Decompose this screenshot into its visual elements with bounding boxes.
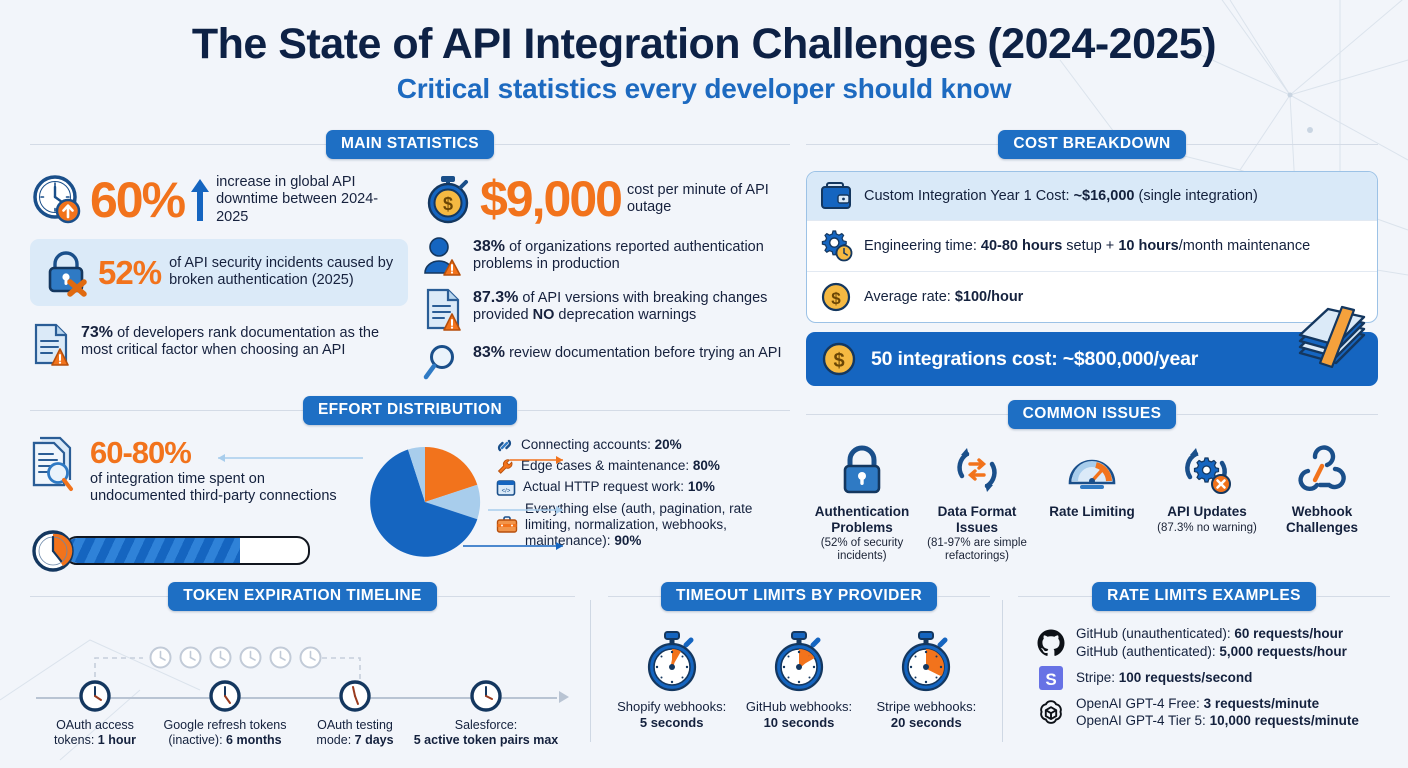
ghost-clocks [148,645,323,670]
divider [30,410,303,411]
stat-value-documentation: 73% [81,324,113,341]
stat-desc-documentation: of developers rank documentation as the … [81,325,379,358]
cost-prefix: Average rate: [864,289,955,305]
stripe-icon: S [1036,663,1066,693]
issue-webhook-challenges: Webhook Challenges [1266,443,1378,563]
timeline-value: 7 days [355,733,394,747]
timeout-label: Shopify webhooks: [617,699,726,714]
stat-broken-auth: 52% of API security incidents caused by … [30,239,408,306]
rate-limit-label: OpenAI GPT-4 Tier 5: [1076,713,1210,728]
dollar-coin-icon: $ [819,281,853,313]
timeline-label-1: OAuth testing [317,718,393,732]
timeout-label: Stripe webhooks: [876,699,976,714]
token-timeline: OAuth accesstokens: 1 hour Google refres… [30,623,575,743]
clock-icon [78,679,112,713]
section-header-effort-distribution: EFFORT DISTRIBUTION [30,396,790,425]
data-format-icon [948,443,1006,499]
stat-review-docs: 83% review documentation before trying a… [422,342,790,382]
page-subtitle: Critical statistics every developer shou… [0,73,1408,105]
gauge-icon [1063,443,1121,499]
progress-bar[interactable] [64,536,310,565]
chip-effort-distribution: EFFORT DISTRIBUTION [303,396,517,425]
lock-error-icon [42,248,90,296]
stat-desc-breaking-changes-bold: NO [533,307,555,323]
issue-name: Data Format Issues [921,504,1033,535]
pie-connectors [368,438,788,568]
issue-sub: (87.3% no warning) [1151,522,1263,535]
rate-limit-value: 10,000 requests/minute [1210,713,1359,728]
timeout-limits-body: Shopify webhooks:5 seconds GitHub webhoo… [608,629,990,732]
divider [494,144,790,145]
openai-icon [1036,697,1066,727]
rate-limit-stripe: S Stripe: 100 requests/second [1036,663,1390,693]
arrow-up-icon [190,177,210,223]
cost-row-year1: Custom Integration Year 1 Cost: ~$16,000… [807,172,1377,220]
common-issues-body: Authentication Problems (52% of security… [806,443,1378,563]
main-statistics-body: 60% increase in global API downtime betw… [30,173,790,382]
webhook-icon [1293,443,1351,499]
stat-breaking-changes: 87.3% of API versions with breaking chan… [422,287,790,331]
issue-name: Authentication Problems [806,504,918,535]
stat-auth-problems: 38% of organizations reported authentica… [422,236,790,276]
issue-api-updates: API Updates (87.3% no warning) [1151,443,1263,563]
effort-description: of integration time spent on undocumente… [90,471,360,506]
issue-sub: (81-97% are simple refactorings) [921,537,1033,563]
divider [1018,596,1092,597]
timeline-node-google-refresh: Google refresh tokens(inactive): 6 month… [150,679,300,748]
timeline-label-2: tokens: [54,733,98,747]
cost-breakdown-card: Custom Integration Year 1 Cost: ~$16,000… [806,171,1378,323]
cash-stack-icon [1280,305,1380,377]
divider [937,596,990,597]
cost-value: 40-80 hours [981,238,1062,254]
wallet-icon [819,181,853,211]
rate-limits-panel: RATE LIMITS EXAMPLES GitHub (unauthentic… [1018,582,1390,732]
cost-suffix: (single integration) [1134,188,1257,204]
clock-icon [178,645,203,670]
stat-desc-review-docs: review documentation before trying an AP… [509,345,781,361]
document-warning-icon [422,287,464,331]
timeline-label-1: Salesforce: [455,718,518,732]
cost-suffix: /month maintenance [1179,238,1310,254]
effort-value: 60-80% [90,437,360,468]
magnifier-icon [422,342,464,382]
svg-text:$: $ [831,289,841,308]
clock-icon [469,679,503,713]
stopwatch-icon [768,629,830,695]
divider [30,144,326,145]
stat-value-broken-auth: 52% [98,254,161,291]
rate-limits-body: GitHub (unauthenticated): 60 requests/ho… [1018,625,1390,730]
effort-progress [30,528,360,574]
rate-limit-openai: OpenAI GPT-4 Free: 3 requests/minute Ope… [1036,695,1390,731]
main-stats-right: $ $9,000 cost per minute of API outage 3… [422,173,790,382]
gear-clock-icon [819,230,853,262]
timeline-value: 1 hour [98,733,136,747]
stat-desc-auth-problems: of organizations reported authentication… [473,239,764,272]
chip-cost-breakdown: COST BREAKDOWN [998,130,1185,159]
chip-common-issues: COMMON ISSUES [1008,400,1177,429]
cost-prefix: Engineering time: [864,238,981,254]
rate-limit-value: 5,000 requests/hour [1219,644,1347,659]
svg-text:$: $ [443,194,453,214]
document-warning-icon [30,322,72,366]
issue-sub: (52% of security incidents) [806,537,918,563]
cost-value-2: 10 hours [1118,238,1178,254]
stat-desc-broken-auth: of API security incidents caused by brok… [169,255,396,289]
chip-token-timeline: TOKEN EXPIRATION TIMELINE [168,582,437,611]
timeline-node-oauth-testing: OAuth testingmode: 7 days [280,679,430,748]
timeline-value: 5 active token pairs max [414,733,559,747]
divider [1002,600,1003,742]
divider [437,596,575,597]
issue-name: Webhook Challenges [1266,504,1378,535]
divider [806,144,998,145]
stat-value-outage-cost: $9,000 [480,174,621,224]
section-header-cost-breakdown: COST BREAKDOWN [806,130,1378,159]
section-header-main-statistics: MAIN STATISTICS [30,130,790,159]
divider [1186,144,1378,145]
stat-desc-outage-cost: cost per minute of API outage [627,182,790,216]
divider [1176,414,1378,415]
main-stats-left: 60% increase in global API downtime betw… [30,173,408,382]
api-update-error-icon [1178,443,1236,499]
stat-value-review-docs: 83% [473,344,505,361]
section-header-rate-limits: RATE LIMITS EXAMPLES [1018,582,1390,611]
user-warning-icon [422,236,464,276]
timeout-limits-panel: TIMEOUT LIMITS BY PROVIDER Shopify webho… [608,582,990,732]
bottom-row: TOKEN EXPIRATION TIMELINE [0,582,1408,768]
cost-value: $100/hour [955,289,1024,305]
clock-icon [30,528,76,574]
rate-limit-label: Stripe: [1076,670,1119,685]
stat-value-downtime: 60% [90,175,184,225]
divider [1316,596,1390,597]
stat-desc-downtime: increase in global API downtime between … [216,174,408,225]
section-header-common-issues: COMMON ISSUES [806,400,1378,429]
stopwatch-dollar-icon: $ [422,173,474,225]
issue-rate-limiting: Rate Limiting [1036,443,1148,563]
cost-mid: setup + [1062,238,1118,254]
clock-icon [338,679,372,713]
timeline-node-salesforce: Salesforce:5 active token pairs max [411,679,561,748]
stat-value-auth-problems: 38% [473,238,505,255]
rate-limit-value: 3 requests/minute [1204,696,1320,711]
timeline-node-oauth-access: OAuth accesstokens: 1 hour [20,679,170,748]
rate-limit-label: GitHub (unauthenticated): [1076,626,1234,641]
divider [806,414,1008,415]
document-search-icon [30,437,80,495]
cost-total-banner: $ 50 integrations cost: ~$800,000/year [806,332,1378,386]
timeout-shopify: Shopify webhooks:5 seconds [608,629,735,732]
clock-icon [208,679,242,713]
stat-outage-cost: $ $9,000 cost per minute of API outage [422,173,790,225]
progress-bar-fill [66,538,240,563]
timeout-value: 5 seconds [640,715,704,730]
stopwatch-icon [641,629,703,695]
timeout-stripe: Stripe webhooks:20 seconds [863,629,990,732]
clock-icon [208,645,233,670]
divider [608,596,661,597]
clock-up-icon [30,173,84,227]
clock-icon [238,645,263,670]
timeline-label-1: Google refresh tokens [164,718,287,732]
section-header-token-timeline: TOKEN EXPIRATION TIMELINE [30,582,575,611]
issue-authentication-problems: Authentication Problems (52% of security… [806,443,918,563]
issue-data-format: Data Format Issues (81-97% are simple re… [921,443,1033,563]
divider [30,596,168,597]
rate-limit-github: GitHub (unauthenticated): 60 requests/ho… [1036,625,1390,661]
stat-desc-breaking-changes-2: deprecation warnings [554,307,696,323]
timeout-github: GitHub webhooks:10 seconds [735,629,862,732]
divider [590,600,591,742]
page-title: The State of API Integration Challenges … [0,22,1408,67]
clock-icon [298,645,323,670]
timeline-label-1: OAuth access [56,718,134,732]
stat-api-downtime: 60% increase in global API downtime betw… [30,173,408,227]
issue-name: Rate Limiting [1036,504,1148,520]
stat-value-breaking-changes: 87.3% [473,289,518,306]
cost-prefix: Custom Integration Year 1 Cost: [864,188,1074,204]
stat-documentation-rank: 73% of developers rank documentation as … [30,322,408,366]
rate-limit-label: OpenAI GPT-4 Free: [1076,696,1204,711]
lock-icon [833,443,891,499]
rate-limit-value: 100 requests/second [1119,670,1253,685]
timeout-value: 20 seconds [891,715,962,730]
svg-text:S: S [1045,670,1056,689]
timeout-value: 10 seconds [764,715,835,730]
clock-icon [148,645,173,670]
token-timeline-panel: TOKEN EXPIRATION TIMELINE [30,582,575,743]
timeline-label-2: mode: [316,733,354,747]
rate-limit-label: GitHub (authenticated): [1076,644,1219,659]
right-column: COST BREAKDOWN Custom Integration Year 1… [806,130,1378,563]
section-header-timeout-limits: TIMEOUT LIMITS BY PROVIDER [608,582,990,611]
stopwatch-icon [895,629,957,695]
dollar-coin-icon: $ [820,341,858,377]
chip-rate-limits: RATE LIMITS EXAMPLES [1092,582,1316,611]
timeline-label-2: (inactive): [168,733,226,747]
clock-icon [268,645,293,670]
rate-limit-value: 60 requests/hour [1234,626,1343,641]
divider [517,410,790,411]
cost-total-label: 50 integrations cost: ~$800,000/year [871,348,1198,371]
svg-text:$: $ [834,350,845,372]
chip-main-statistics: MAIN STATISTICS [326,130,494,159]
chip-timeout-limits: TIMEOUT LIMITS BY PROVIDER [661,582,937,611]
timeline-value: 6 months [226,733,282,747]
github-icon [1036,628,1066,658]
cost-row-engineering-time: Engineering time: 40-80 hours setup + 10… [807,220,1377,271]
cost-value: ~$16,000 [1074,188,1135,204]
timeout-label: GitHub webhooks: [746,699,852,714]
issue-name: API Updates [1151,504,1263,520]
